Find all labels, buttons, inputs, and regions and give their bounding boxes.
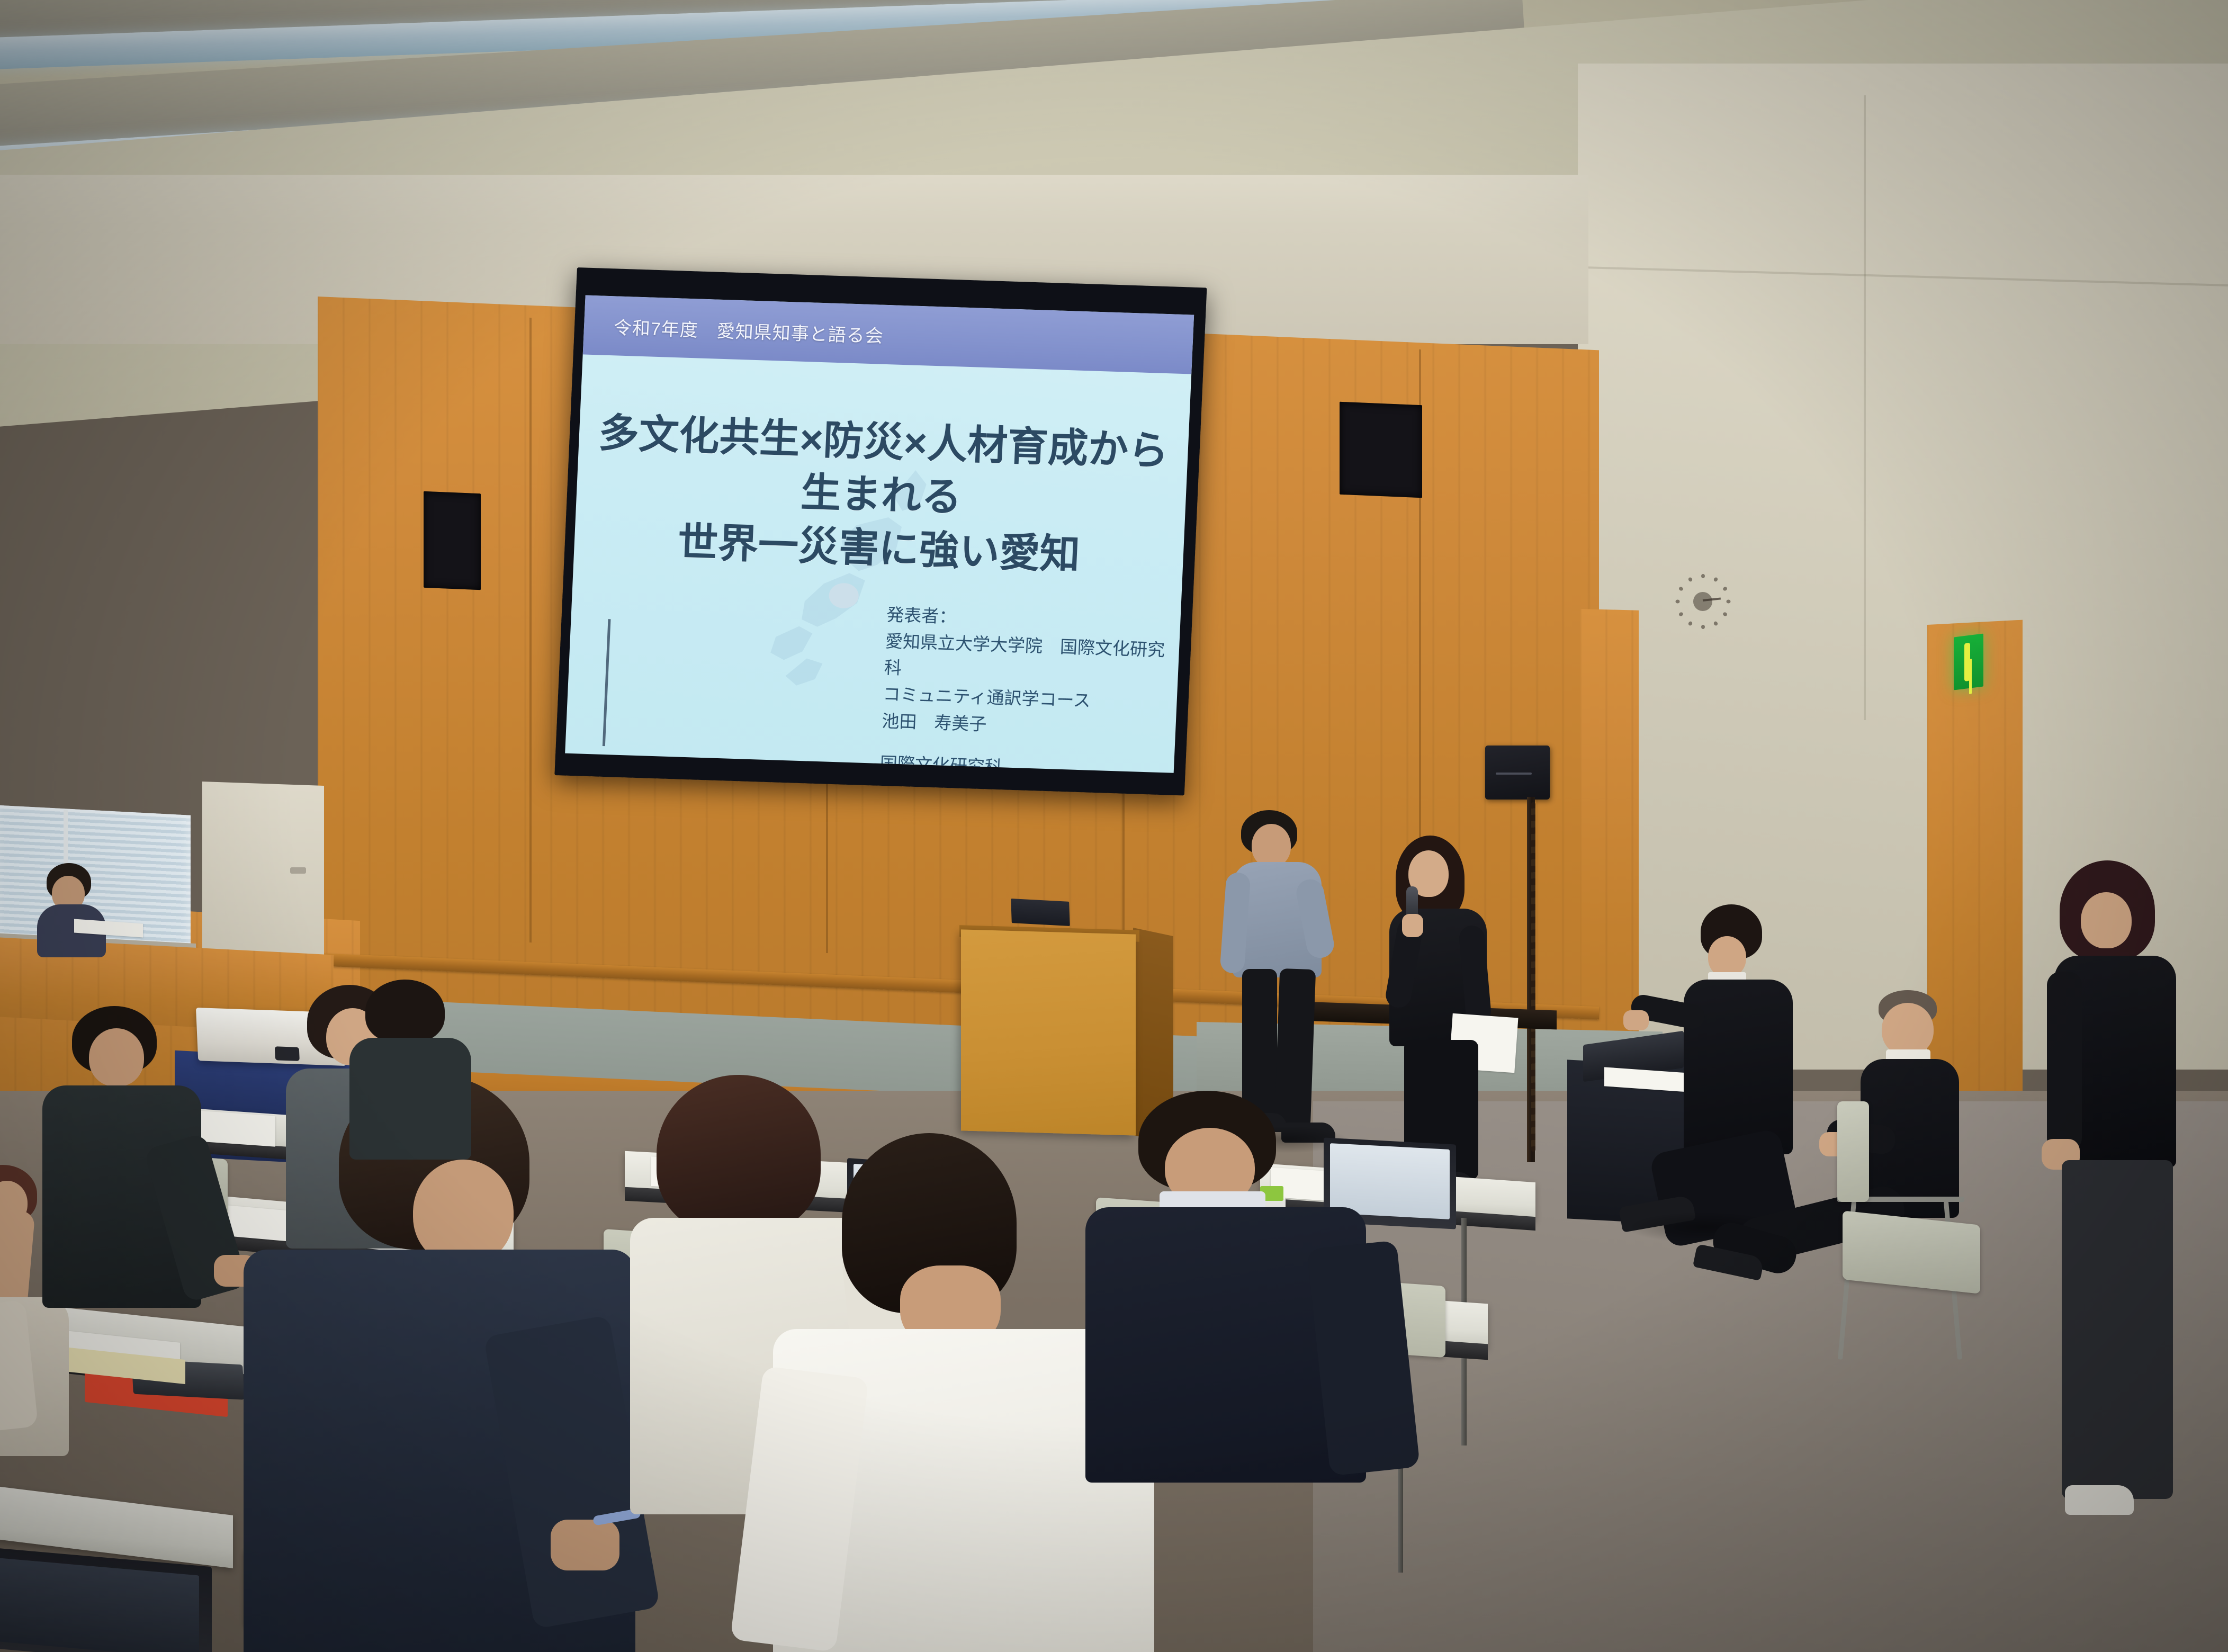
wood-seam-1 [529, 318, 532, 942]
hair [657, 1075, 821, 1234]
hand-with-pen [551, 1520, 619, 1570]
arm [2047, 972, 2082, 1152]
head [1708, 936, 1746, 977]
projection-screen: 令和7年度 愛知県知事と語る会 多文化共生×防災×人材育成から生まれる 世界一災… [554, 267, 1207, 795]
clock-tick [1713, 577, 1718, 582]
slide-presenter-block: 発表者： 愛知県立大学大学院 国際文化研究科 コミュニティ通訳学コース 池田 寿… [878, 601, 1181, 773]
emergency-exit-sign [1954, 634, 1983, 690]
wall-niche-left [424, 491, 481, 590]
presenter-affiliation-1: 愛知県立大学大学院 国際文化研究科 [884, 628, 1180, 690]
slide-title: 多文化共生×防災×人材育成から生まれる 世界一災害に強い愛知 [573, 406, 1189, 585]
legs [2062, 1160, 2173, 1499]
hair [365, 980, 445, 1043]
clock-tick [1678, 612, 1684, 617]
slide-title-line1: 多文化共生×防災×人材育成から生まれる [576, 406, 1189, 532]
chair-backrest[interactable] [1837, 1101, 1869, 1202]
hand-on-mic [1402, 914, 1423, 937]
clock-tick [1676, 600, 1680, 604]
speaker-cable [1531, 802, 1535, 1152]
clock-tick [1701, 574, 1705, 578]
conference-room-photo: 令和7年度 愛知県知事と語る会 多文化共生×防災×人材育成から生まれる 世界一災… [0, 0, 2228, 1652]
head [1252, 824, 1291, 867]
clock-tick [1687, 577, 1693, 582]
slide-accent-bar [603, 619, 611, 746]
leg-left [1242, 969, 1277, 1120]
projector-lens [274, 1046, 299, 1061]
clock-tick [1722, 612, 1728, 617]
shoe-white [2065, 1485, 2134, 1515]
head [89, 1028, 144, 1087]
wood-panel-wall-right-door [1927, 620, 2023, 1101]
wall-seam-right-2 [1864, 95, 1866, 720]
torso-suit [1684, 980, 1793, 1154]
pa-speaker [1485, 746, 1550, 800]
slide-banner-text: 令和7年度 愛知県知事と語る会 [613, 313, 884, 347]
clock-tick [1727, 600, 1731, 604]
clock-tick [1687, 621, 1693, 626]
head [1882, 1003, 1934, 1056]
clock-tick [1713, 621, 1718, 626]
door-handle[interactable] [290, 867, 306, 874]
clock-tick [1701, 625, 1705, 629]
head [2081, 892, 2132, 948]
torso [349, 1038, 471, 1160]
wooden-podium [961, 929, 1136, 1135]
leg-right [1274, 968, 1316, 1128]
hand [1623, 1010, 1649, 1030]
clock-tick [1678, 586, 1684, 591]
slide-content: 令和7年度 愛知県知事と語る会 多文化共生×防災×人材育成から生まれる 世界一災… [565, 295, 1194, 773]
clock-tick [1722, 586, 1728, 591]
podium-laptop [1011, 899, 1070, 926]
wall-niche-right [1340, 402, 1422, 498]
chair-empty-right[interactable] [1843, 1210, 1980, 1294]
wall-clock [1673, 572, 1732, 631]
